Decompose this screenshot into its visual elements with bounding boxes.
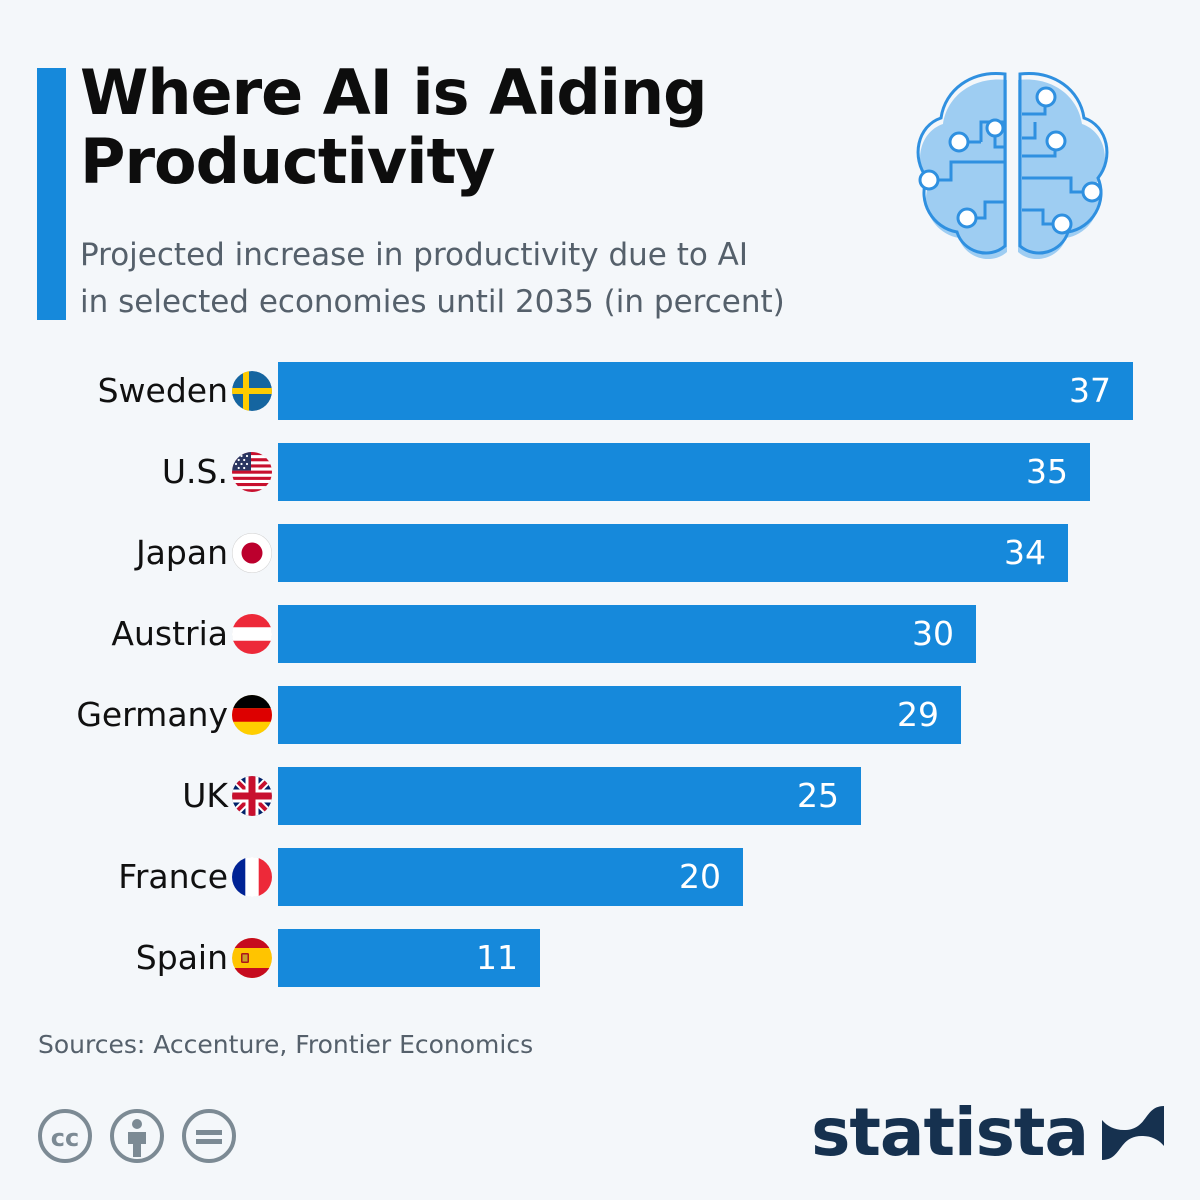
- france-flag-icon: [232, 857, 272, 897]
- bar: 11: [278, 929, 540, 987]
- bar: 25: [278, 767, 861, 825]
- page-subtitle: Projected increase in productivity due t…: [80, 232, 920, 325]
- bar-row: Spain11: [0, 929, 1200, 987]
- bar-value-label: 30: [912, 614, 954, 653]
- statista-logo: statista: [811, 1100, 1164, 1166]
- bar: 34: [278, 524, 1068, 582]
- united-states-flag-icon: [232, 452, 272, 492]
- statista-wordmark: statista: [811, 1100, 1088, 1166]
- bar: 30: [278, 605, 976, 663]
- accent-bar: [37, 68, 66, 320]
- bar: 20: [278, 848, 743, 906]
- bar: 37: [278, 362, 1133, 420]
- spain-flag-icon: [232, 938, 272, 978]
- austria-flag-icon: [232, 614, 272, 654]
- bar-category-label: France: [118, 848, 228, 906]
- bar-row: Sweden37: [0, 362, 1200, 420]
- bar-row: U.S.35: [0, 443, 1200, 501]
- bar-value-label: 29: [897, 695, 939, 734]
- bar-row: France20: [0, 848, 1200, 906]
- no-derivatives-equals-icon: [180, 1107, 238, 1165]
- statista-s-mark-icon: [1102, 1102, 1164, 1164]
- bar-row: Germany29: [0, 686, 1200, 744]
- creative-commons-badges: cc: [36, 1107, 238, 1165]
- bar-row: UK25: [0, 767, 1200, 825]
- bar-value-label: 35: [1026, 452, 1068, 491]
- header: Where AI is Aiding Productivity Projecte…: [0, 0, 1200, 350]
- sweden-flag-icon: [232, 371, 272, 411]
- bar: 35: [278, 443, 1090, 501]
- bar-value-label: 11: [476, 938, 518, 977]
- creative-commons-icon: cc: [36, 1107, 94, 1165]
- bar-value-label: 34: [1004, 533, 1046, 572]
- bar-category-label: Japan: [136, 524, 228, 582]
- bar-value-label: 25: [797, 776, 839, 815]
- bar-chart: Sweden37U.S.35Japan34Austria30Germany29U…: [0, 362, 1200, 1010]
- bar-category-label: U.S.: [162, 443, 228, 501]
- bar-category-label: Austria: [111, 605, 228, 663]
- page-title: Where AI is Aiding Productivity: [80, 58, 880, 197]
- bar-category-label: Spain: [136, 929, 228, 987]
- bar-category-label: UK: [182, 767, 228, 825]
- united-kingdom-flag-icon: [232, 776, 272, 816]
- bar-category-label: Germany: [76, 686, 228, 744]
- japan-flag-icon: [232, 533, 272, 573]
- bar-value-label: 37: [1069, 371, 1111, 410]
- ai-brain-icon: [895, 52, 1130, 287]
- bar-value-label: 20: [679, 857, 721, 896]
- bar: 29: [278, 686, 961, 744]
- bar-category-label: Sweden: [98, 362, 228, 420]
- svg-text:cc: cc: [51, 1124, 79, 1152]
- bar-row: Austria30: [0, 605, 1200, 663]
- germany-flag-icon: [232, 695, 272, 735]
- bar-row: Japan34: [0, 524, 1200, 582]
- sources-note: Sources: Accenture, Frontier Economics: [38, 1030, 533, 1059]
- attribution-person-icon: [108, 1107, 166, 1165]
